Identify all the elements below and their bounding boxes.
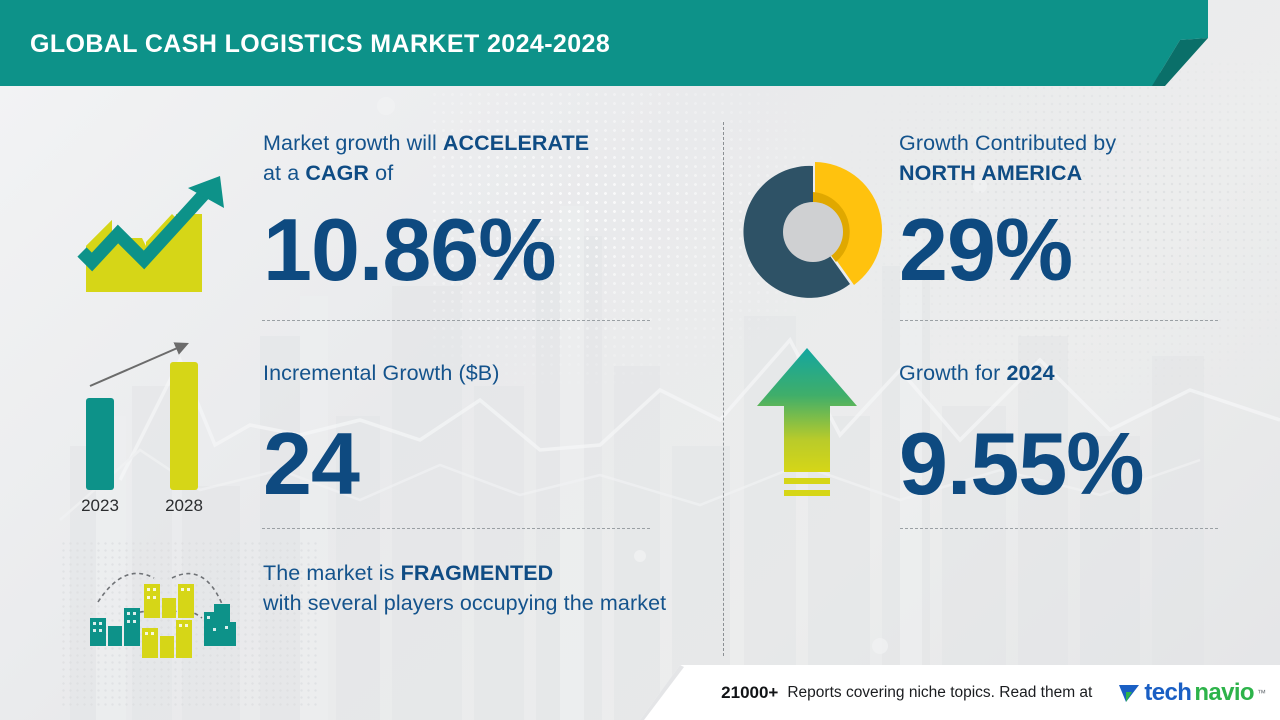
growth-2024-value: 9.55%	[899, 420, 1144, 508]
bar-label-2028: 2028	[165, 496, 203, 515]
footer-caption: Reports covering niche topics. Read them…	[787, 684, 1092, 702]
divider-left-1	[262, 320, 650, 321]
incremental-growth-label: Incremental Growth ($B)	[263, 358, 663, 388]
north-america-label: Growth Contributed by NORTH AMERICA	[899, 128, 1219, 188]
technavio-logo-tm: ™	[1257, 688, 1266, 698]
city-cluster-icon	[62, 556, 258, 664]
fragmentation-bold: FRAGMENTED	[401, 561, 554, 585]
growth-2024-part1: Growth for	[899, 361, 1006, 385]
cagr-label-part1: Market growth will	[263, 131, 443, 155]
footer-report-count: 21000+	[721, 683, 778, 703]
incremental-growth-value: 24	[263, 420, 359, 508]
page-title: GLOBAL CASH LOGISTICS MARKET 2024-2028	[30, 30, 610, 59]
fragmentation-part2: with several players occupying the marke…	[263, 591, 666, 615]
fragmentation-label: The market is FRAGMENTED with several pl…	[263, 558, 673, 618]
growth-chart-icon	[72, 142, 232, 302]
cagr-label-part3: of	[369, 161, 393, 185]
cagr-value: 10.86%	[263, 206, 555, 294]
divider-right-1	[900, 320, 1218, 321]
cagr-label: Market growth will ACCELERATE at a CAGR …	[263, 128, 663, 188]
growth-2024-label: Growth for 2024	[899, 358, 1219, 388]
bar-comparison-icon: 2023 2028	[62, 330, 252, 520]
donut-chart-icon	[740, 162, 886, 302]
technavio-logo-tech: tech	[1144, 679, 1191, 707]
column-divider	[723, 122, 724, 656]
technavio-logo-navio: navio	[1194, 679, 1254, 707]
north-america-part1: Growth Contributed by	[899, 131, 1116, 155]
growth-2024-bold: 2024	[1006, 361, 1054, 385]
technavio-logo[interactable]: technavio™	[1117, 679, 1266, 707]
cagr-label-cagr: CAGR	[305, 161, 369, 185]
divider-right-2	[900, 528, 1218, 529]
technavio-mark-icon	[1117, 680, 1141, 706]
bar-label-2023: 2023	[81, 496, 119, 515]
cagr-label-accelerate: ACCELERATE	[443, 131, 589, 155]
content-area: Market growth will ACCELERATE at a CAGR …	[0, 0, 1280, 720]
north-america-value: 29%	[899, 206, 1072, 294]
footer-bar: 21000+ Reports covering niche topics. Re…	[640, 665, 1280, 720]
cagr-label-part2: at a	[263, 161, 305, 185]
fragmentation-part1: The market is	[263, 561, 401, 585]
north-america-bold: NORTH AMERICA	[899, 161, 1082, 185]
divider-left-2	[262, 528, 650, 529]
up-arrow-icon	[752, 344, 862, 506]
header-fold-corner	[1110, 0, 1230, 86]
